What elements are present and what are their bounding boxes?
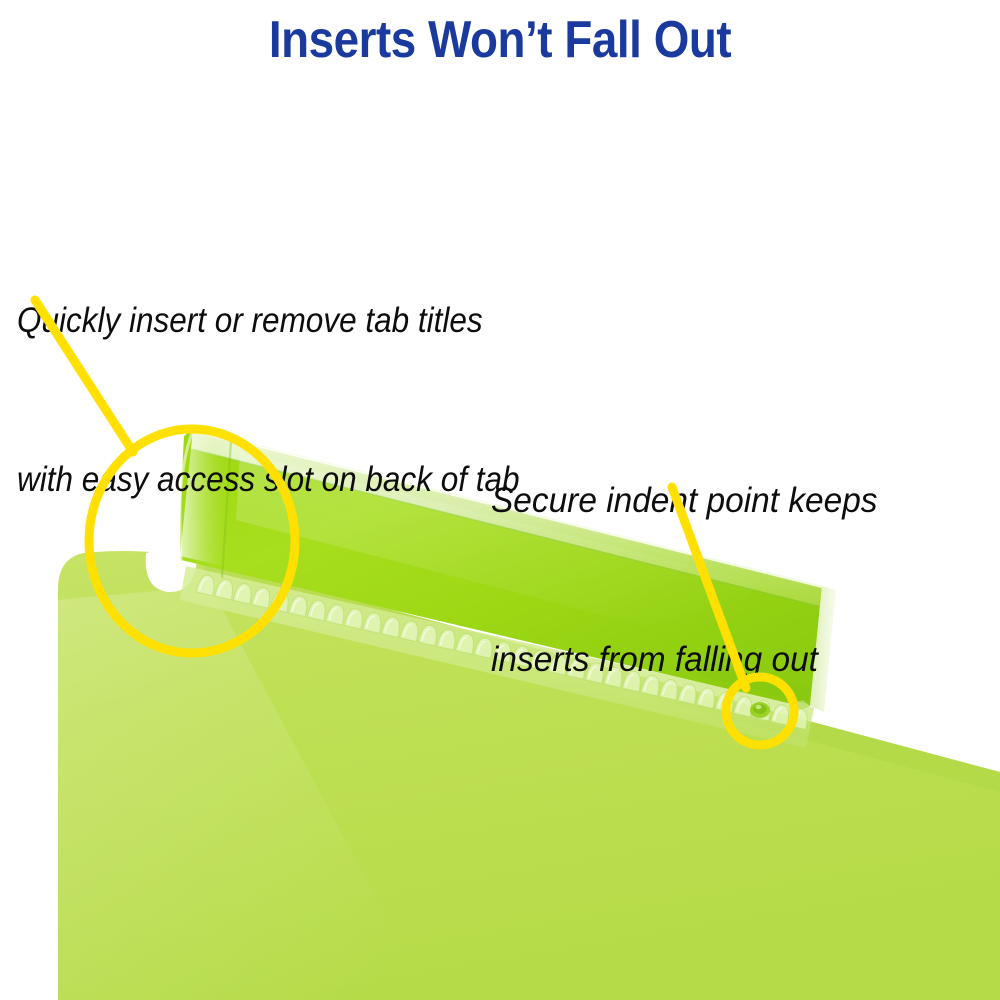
- callout-indent-point-line-1: Secure indent point keeps: [491, 474, 878, 527]
- infographic-canvas: Inserts Won’t Fall Out Quickly insert or…: [0, 0, 1000, 1000]
- callout-access-slot-line-2: with easy access slot on back of tab: [17, 453, 520, 506]
- callout-access-slot-text: Quickly insert or remove tab titles with…: [17, 188, 520, 612]
- callout-access-slot-line-1: Quickly insert or remove tab titles: [17, 294, 520, 347]
- callout-indent-point-line-2: inserts from falling out: [491, 633, 878, 686]
- callout-indent-point-text: Secure indent point keeps inserts from f…: [491, 368, 878, 792]
- page-title: Inserts Won’t Fall Out: [60, 8, 940, 72]
